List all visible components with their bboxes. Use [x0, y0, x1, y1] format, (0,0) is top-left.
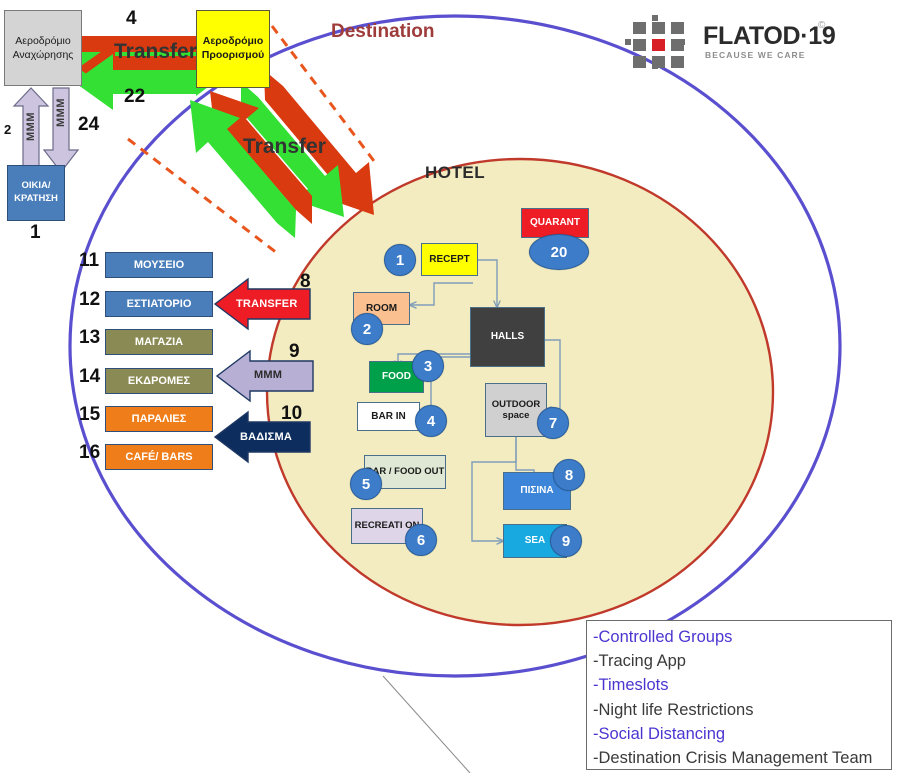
hotel-node-badge-3[interactable]: 3 — [412, 350, 444, 382]
transfer-word-top: Transfer — [114, 40, 197, 64]
hotel-node-label: BAR IN — [371, 411, 405, 423]
hotel-node-badge-6[interactable]: 6 — [405, 524, 437, 556]
logo-square — [671, 22, 684, 34]
hotel-node-label: HALLS — [491, 331, 524, 343]
logo-accent-square-0 — [652, 15, 658, 21]
hotel-node-badge-9[interactable]: 9 — [550, 525, 582, 557]
logo-square — [633, 39, 646, 51]
logo-accent-square-1 — [625, 39, 631, 45]
logo-accent-square-3 — [652, 63, 658, 69]
legend-item-4: -Social Distancing — [593, 722, 885, 746]
activity-box-15[interactable]: ΠΑΡΑΛΙΕΣ — [105, 406, 213, 432]
activity-number-14: 14 — [79, 366, 103, 388]
logo-square — [633, 56, 646, 68]
activity-label: ΠΑΡΑΛΙΕΣ — [132, 413, 187, 425]
home-booking-label: ΟΙΚΙΑ/ ΚΡΑΤΗΣΗ — [8, 180, 64, 206]
logo-square — [671, 56, 684, 68]
home-number: 1 — [30, 222, 41, 244]
mode-arrow-label-8: TRANSFER — [236, 298, 298, 310]
activity-number-11: 11 — [79, 250, 103, 272]
page-title-destination: Destination — [331, 21, 434, 43]
hotel-node-label: QUARANT — [530, 217, 580, 229]
mode-arrow-label-9: MMM — [254, 369, 282, 381]
hotel-node-badge-1[interactable]: 1 — [384, 244, 416, 276]
activity-number-16: 16 — [79, 442, 103, 464]
hotel-node-badge-20[interactable]: 20 — [529, 234, 589, 270]
hotel-node-badge-2[interactable]: 2 — [351, 313, 383, 345]
logo-wordmark: FLATOD·19 — [703, 22, 836, 51]
activity-label: ΕΣΤΙΑΤΟΡΙΟ — [127, 298, 192, 310]
logo-square-accent — [652, 39, 665, 51]
activity-number-12: 12 — [79, 289, 103, 311]
legend-item-3: -Night life Restrictions — [593, 698, 885, 722]
activity-box-13[interactable]: ΜΑΓΑΖΙΑ — [105, 329, 213, 355]
activity-box-14[interactable]: ΕΚΔΡΟΜΕΣ — [105, 368, 213, 394]
activity-box-11[interactable]: ΜΟΥΣΕΙΟ — [105, 252, 213, 278]
transfer-word-mid: Transfer — [243, 135, 326, 159]
hotel-node-bar_in[interactable]: BAR IN — [357, 402, 420, 431]
legend-item-0: -Controlled Groups — [593, 625, 885, 649]
diagram-canvas: Αεροδρόμιο Αναχώρησης Αεροδρόμιο Προορισ… — [0, 0, 900, 773]
measures-legend: -Controlled Groups-Tracing App-Timeslots… — [586, 620, 892, 770]
hotel-node-halls[interactable]: HALLS — [470, 307, 545, 367]
activity-number-15: 15 — [79, 404, 103, 426]
mmm-down-label: MMM — [55, 98, 67, 127]
activity-box-12[interactable]: ΕΣΤΙΑΤΟΡΙΟ — [105, 291, 213, 317]
mode-arrow-number-9: 9 — [289, 341, 300, 363]
mode-arrow-label-10: ΒΑΔΙΣΜΑ — [240, 431, 292, 443]
return-number: 22 — [124, 86, 145, 108]
hotel-node-badge-7[interactable]: 7 — [537, 407, 569, 439]
hotel-node-badge-8[interactable]: 8 — [553, 459, 585, 491]
activity-label: CAFÉ/ BARS — [125, 451, 192, 463]
activity-label: ΜΟΥΣΕΙΟ — [134, 259, 184, 271]
legend-item-5: -Destination Crisis Management Team — [593, 746, 885, 770]
airport-departure-label: Αεροδρόμιο Αναχώρησης — [7, 34, 79, 62]
mode-arrow-number-8: 8 — [300, 271, 311, 293]
activity-label: ΕΚΔΡΟΜΕΣ — [128, 375, 190, 387]
hotel-node-badge-5[interactable]: 5 — [350, 468, 382, 500]
logo-copyright: © — [818, 20, 825, 31]
hotel-node-label: FOOD — [382, 371, 411, 383]
connector-recept-room — [410, 283, 473, 305]
logo-square — [633, 22, 646, 34]
activity-label: ΜΑΓΑΖΙΑ — [135, 336, 183, 348]
outbound-number: 4 — [126, 8, 137, 30]
hotel-node-recept[interactable]: RECEPT — [421, 243, 478, 276]
mmm-up-number: 2 — [4, 122, 11, 137]
hotel-node-badge-4[interactable]: 4 — [415, 405, 447, 437]
activity-box-16[interactable]: CAFÉ/ BARS — [105, 444, 213, 470]
legend-item-1: -Tracing App — [593, 649, 885, 673]
activity-number-13: 13 — [79, 327, 103, 349]
hotel-node-label: ΠΙΣΙΝΑ — [520, 485, 553, 497]
mmm-down-number: 24 — [78, 114, 99, 136]
logo-square — [652, 22, 665, 34]
airport-arrival-label: Αεροδρόμιο Προορισμού — [199, 35, 267, 62]
airport-arrival-box[interactable]: Αεροδρόμιο Προορισμού — [196, 10, 270, 88]
connector-halls-outdoor — [545, 340, 560, 410]
flatod19-logo: FLATOD·19 BECAUSE WE CARE © — [625, 14, 825, 70]
hotel-node-label: SEA — [525, 535, 546, 547]
mmm-up-label: MMM — [25, 112, 37, 141]
logo-accent-square-2 — [679, 39, 685, 45]
connector-recept-halls — [478, 260, 497, 307]
legend-item-2: -Timeslots — [593, 673, 885, 697]
airport-departure-box[interactable]: Αεροδρόμιο Αναχώρησης — [4, 10, 82, 86]
home-booking-box[interactable]: ΟΙΚΙΑ/ ΚΡΑΤΗΣΗ — [7, 165, 65, 221]
logo-tagline: BECAUSE WE CARE — [705, 50, 806, 60]
mode-arrow-number-10: 10 — [281, 403, 302, 425]
hotel-title: HOTEL — [425, 163, 485, 183]
hotel-node-label: RECEPT — [429, 254, 470, 266]
